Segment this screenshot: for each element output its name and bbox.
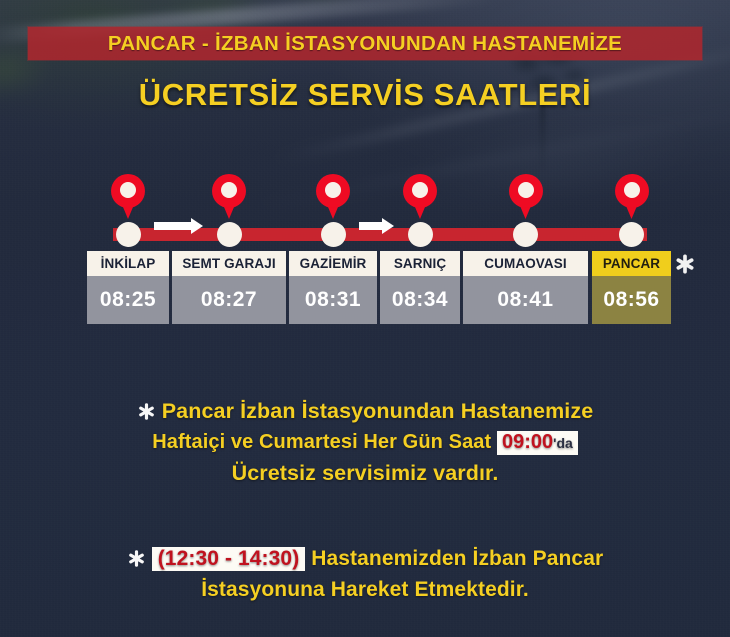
asterisk-icon [674,253,696,275]
map-pin-icon [509,174,543,220]
page-title: PANCAR - İZBAN İSTASYONUNDAN HASTANEMİZE [108,32,622,56]
station-departure-time: 08:34 [380,276,460,324]
station-name: GAZİEMİR [289,251,377,276]
note1-line3: Ücretsiz servisimiz vardır. [0,458,730,489]
note-block-2: (12:30 - 14:30) Hastanemizden İzban Panc… [0,543,730,605]
route-stop-dot [513,222,538,247]
service-time-suffix: 'da [553,435,573,451]
note1-line2: Haftaiçi ve Cumartesi Her Gün Saat 09:00… [0,427,730,458]
arrow-head [382,218,394,234]
station-name: İNKİLAP [87,251,169,276]
note1-line2-prefix: Haftaiçi ve Cumartesi Her Gün Saat [152,431,491,453]
station-name: SARNIÇ [380,251,460,276]
note1-line1-text: Pancar İzban İstasyonundan Hastanemize [162,399,594,423]
map-pin-center [120,182,136,198]
station-departure-time: 08:41 [463,276,588,324]
route-stop-dot [116,222,141,247]
service-time-chip: 09:00'da [497,431,578,455]
return-time-range-chip: (12:30 - 14:30) [152,547,306,571]
station-departure-time: 08:31 [289,276,377,324]
map-pin-icon [615,174,649,220]
map-pin-center [412,182,428,198]
station-card: PANCAR08:56 [592,251,671,324]
station-card: SARNIÇ08:34 [380,251,460,324]
station-departure-time: 08:27 [172,276,286,324]
asterisk-icon [137,399,156,418]
note1-line1: Pancar İzban İstasyonundan Hastanemize [0,396,730,427]
route-stop-dot [408,222,433,247]
arrow-right-icon [359,218,394,234]
map-pin-center [221,182,237,198]
service-time-value: 09:00 [502,431,553,453]
map-pin-icon [403,174,437,220]
station-schedule-row: İNKİLAP08:25SEMT GARAJI08:27GAZİEMİR08:3… [0,251,730,324]
poster-canvas: PANCAR - İZBAN İSTASYONUNDAN HASTANEMİZE… [0,0,730,637]
map-pin-center [518,182,534,198]
station-card: SEMT GARAJI08:27 [172,251,286,324]
route-stop-dot [217,222,242,247]
map-pin-icon [111,174,145,220]
note2-line1: (12:30 - 14:30) Hastanemizden İzban Panc… [0,543,730,574]
note-block-1: Pancar İzban İstasyonundan Hastanemize H… [0,396,730,489]
note2-line2: İstasyonuna Hareket Etmektedir. [0,574,730,605]
map-pin-icon [212,174,246,220]
arrow-shaft [359,222,385,230]
station-departure-time: 08:56 [592,276,671,324]
asterisk-icon [127,546,146,565]
route-stop-dot [321,222,346,247]
arrow-shaft [154,222,194,230]
station-name: PANCAR [592,251,671,276]
map-pin-center [624,182,640,198]
route-timeline [0,168,730,248]
map-pin-center [325,182,341,198]
station-departure-time: 08:25 [87,276,169,324]
station-name: SEMT GARAJI [172,251,286,276]
arrow-head [191,218,203,234]
note2-line1-text: Hastanemizden İzban Pancar [311,547,603,570]
map-pin-icon [316,174,350,220]
page-subtitle: ÜCRETSİZ SERVİS SAATLERİ [0,77,730,113]
notes-section: Pancar İzban İstasyonundan Hastanemize H… [0,396,730,609]
title-banner: PANCAR - İZBAN İSTASYONUNDAN HASTANEMİZE [28,27,702,60]
station-card: CUMAOVASI08:41 [463,251,588,324]
arrow-right-icon [154,218,203,234]
route-stop-dot [619,222,644,247]
station-name: CUMAOVASI [463,251,588,276]
station-card: GAZİEMİR08:31 [289,251,377,324]
station-card: İNKİLAP08:25 [87,251,169,324]
